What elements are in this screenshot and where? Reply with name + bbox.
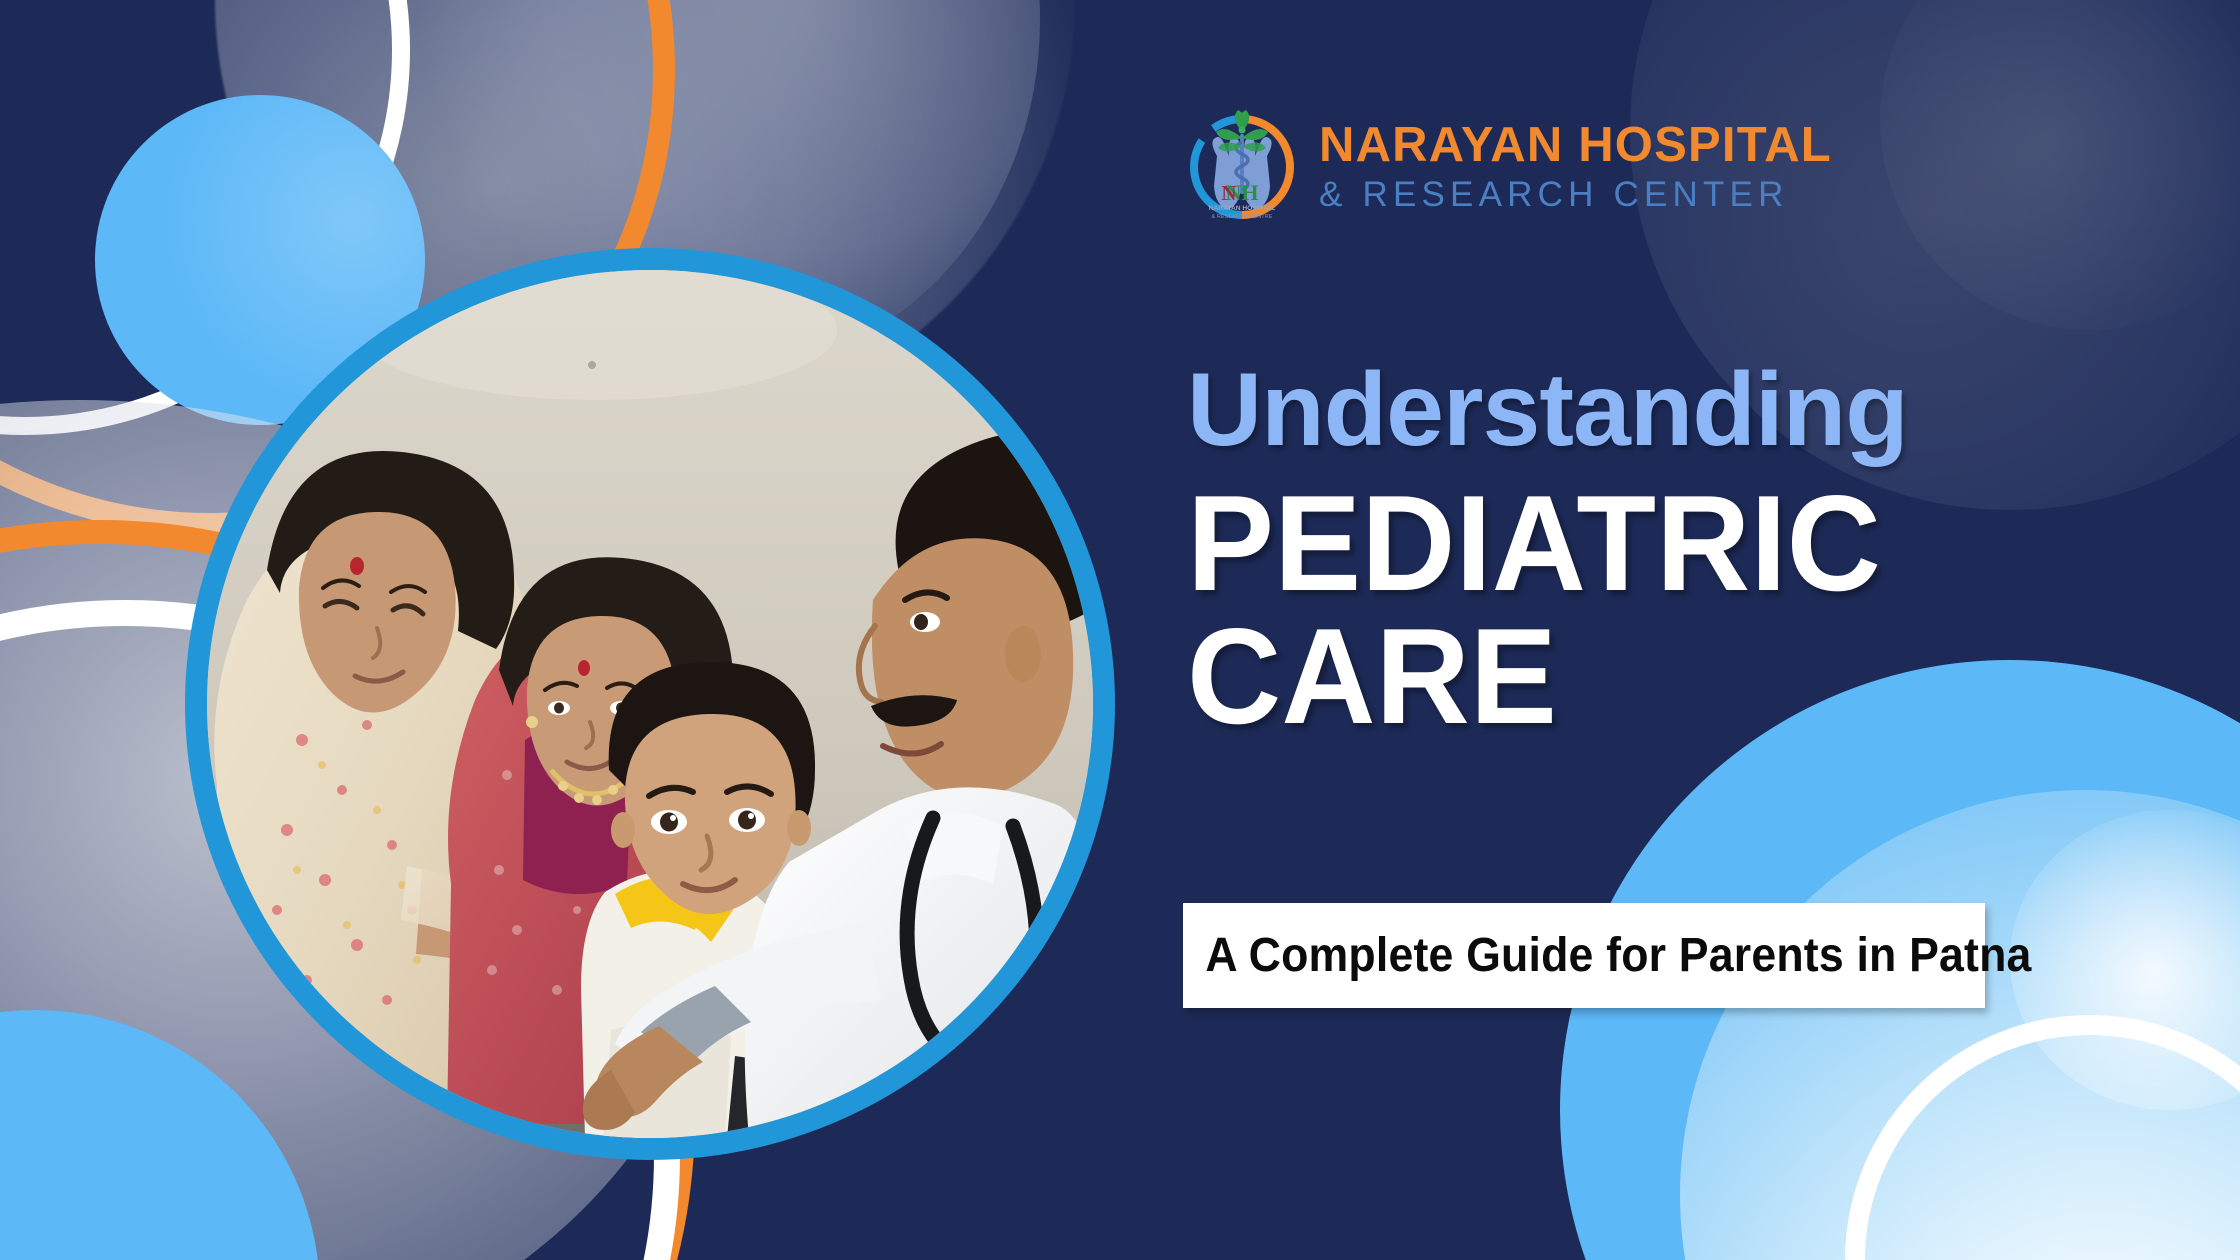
- hospital-emblem-icon: NH N NARAYAN HOSPITAL & RESEARCH CENTRE: [1183, 108, 1301, 226]
- headline-line-2: PEDIATRIC: [1187, 474, 1881, 613]
- subtitle-banner: A Complete Guide for Parents in Patna: [1183, 903, 1985, 1008]
- brand-wordmark: NARAYAN HOSPITAL & RESEARCH CENTER: [1319, 120, 1832, 214]
- hospital-emblem-svg: NH N NARAYAN HOSPITAL & RESEARCH CENTRE: [1183, 108, 1301, 226]
- page-title: Understanding PEDIATRIC CARE: [1187, 358, 1910, 745]
- emblem-caption-line2: & RESEARCH CENTRE: [1212, 214, 1273, 220]
- brand-logo[interactable]: NH N NARAYAN HOSPITAL & RESEARCH CENTRE …: [1183, 108, 1832, 226]
- photo-circle-frame: [185, 248, 1115, 1160]
- brand-name-secondary: & RESEARCH CENTER: [1319, 175, 1832, 214]
- headline-line-1: Understanding: [1187, 358, 1910, 462]
- banner-canvas: NH N NARAYAN HOSPITAL & RESEARCH CENTRE …: [0, 0, 2240, 1260]
- headline-line-3: CARE: [1187, 607, 1881, 746]
- subtitle-text: A Complete Guide for Parents in Patna: [1183, 928, 2032, 983]
- emblem-caption-line1: NARAYAN HOSPITAL: [1209, 205, 1275, 212]
- clinic-photo-illustration: [207, 270, 1093, 1138]
- svg-text:N: N: [1221, 181, 1236, 205]
- content-column: NH N NARAYAN HOSPITAL & RESEARCH CENTRE …: [1183, 0, 2083, 1260]
- disc-blue-bottom-left: [0, 1010, 320, 1260]
- clinic-photo: [207, 270, 1093, 1138]
- brand-name-primary: NARAYAN HOSPITAL: [1319, 120, 1832, 171]
